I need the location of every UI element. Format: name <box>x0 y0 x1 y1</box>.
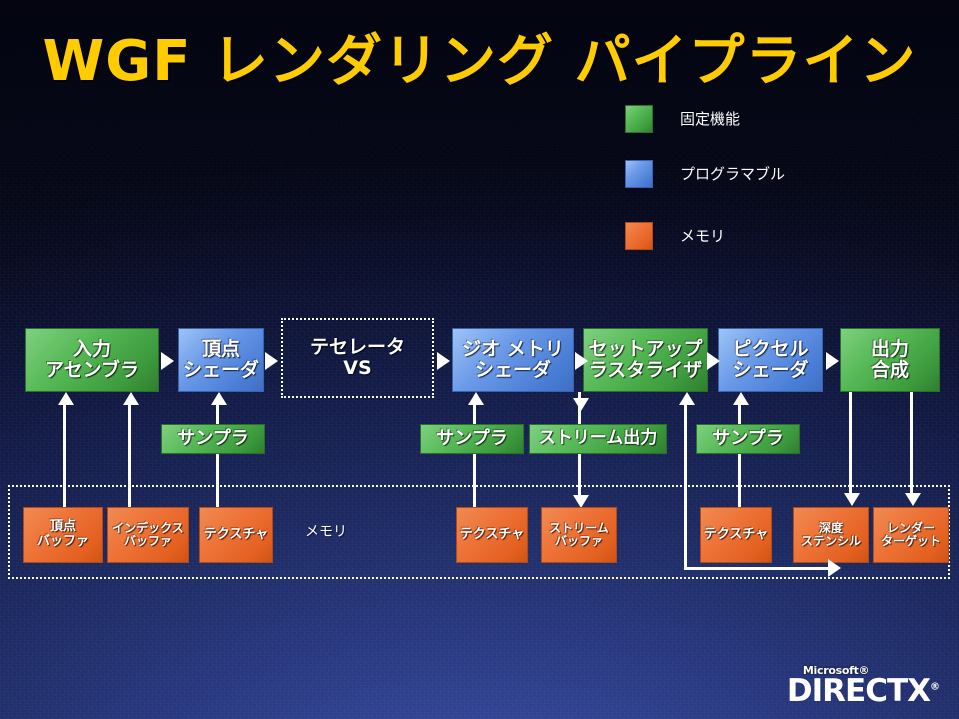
memory-depth-stencil-line2: ステンシル <box>801 535 861 548</box>
arrowhead-memory-to-rasterizer <box>679 392 695 405</box>
stage-vertex-shader-line1: 頂点 <box>202 339 240 360</box>
stage-geometry-shader-line1: ジオ メトリ <box>462 339 564 360</box>
stage-input-assembler[interactable]: 入力 アセンブラ <box>25 328 159 392</box>
stage-input-assembler-line1: 入力 <box>73 339 111 360</box>
slide-canvas: WGF レンダリング パイプライン 固定機能 プログラマブル メモリ メモリ 入… <box>0 0 959 719</box>
stage-setup-rasterizer-line1: セットアップ <box>588 339 702 360</box>
memory-depth-stencil[interactable]: 深度 ステンシル <box>793 507 869 563</box>
memory-texture-3-line1: テクスチャ <box>704 528 768 543</box>
memory-region-caption: メモリ <box>305 521 347 541</box>
arrowhead-ia-to-vs <box>161 352 174 370</box>
memory-stream-buffer-line2: バッファ <box>555 535 603 548</box>
memory-texture-3[interactable]: テクスチャ <box>700 507 772 563</box>
stage-tessellator-line2: VS <box>343 358 371 379</box>
sampler-box-vertex-stage[interactable]: サンプラ <box>161 424 265 454</box>
memory-texture-1[interactable]: テクスチャ <box>199 507 273 563</box>
arrowhead-indexbuffer-to-ia <box>123 392 139 405</box>
stage-pixel-shader-line2: シェーダ <box>732 360 808 381</box>
arrowhead-vertexbuffer-to-ia <box>58 392 74 405</box>
stage-output-merger-line1: 出力 <box>871 339 909 360</box>
stage-geometry-shader-line2: シェーダ <box>475 360 551 381</box>
page-title: WGF レンダリング パイプライン <box>0 16 959 97</box>
stage-input-assembler-line2: アセンブラ <box>45 360 139 381</box>
memory-render-target[interactable]: レンダー ターゲット <box>873 507 949 563</box>
sampler-label-3: サンプラ <box>712 429 783 449</box>
connector-memory-to-rasterizer <box>684 398 687 570</box>
connector-om-to-depthstencil <box>849 392 852 498</box>
directx-logo: Microsoft® DIRECTX® <box>787 664 939 709</box>
sampler-label-2: サンプラ <box>436 429 507 449</box>
memory-vertex-buffer-line2: バッファ <box>37 535 89 550</box>
arrowhead-ps-to-om <box>826 352 839 370</box>
stage-output-merger-line2: 合成 <box>871 360 909 381</box>
stage-pixel-shader[interactable]: ピクセル シェーダ <box>718 328 823 392</box>
sampler-box-geometry-stage[interactable]: サンプラ <box>420 424 524 454</box>
stage-setup-rasterizer[interactable]: セットアップ ラスタライザ <box>583 328 708 392</box>
connector-rasterizer-feedback-horizontal <box>684 567 830 570</box>
legend-label-programmable: プログラマブル <box>680 163 785 184</box>
stage-output-merger[interactable]: 出力 合成 <box>840 328 940 392</box>
sampler-label-1: サンプラ <box>177 429 248 449</box>
memory-vertex-buffer-line1: 頂点 <box>50 520 76 535</box>
stage-tessellator-line1: テセレータ <box>310 337 405 358</box>
connector-indexbuffer-to-ia <box>128 398 131 508</box>
arrowhead-tessellator-to-gs <box>437 352 450 370</box>
stage-setup-rasterizer-line2: ラスタライザ <box>589 360 703 381</box>
memory-render-target-line1: レンダー <box>887 522 935 535</box>
memory-index-buffer[interactable]: インデックス バッファ <box>107 507 189 563</box>
connector-vertexbuffer-to-ia <box>63 398 66 508</box>
registered-mark: ® <box>930 682 939 693</box>
memory-index-buffer-line2: バッファ <box>124 535 172 548</box>
stage-pixel-shader-line1: ピクセル <box>732 339 808 360</box>
arrowhead-texture3-to-ps <box>733 392 749 405</box>
memory-texture-2[interactable]: テクスチャ <box>456 507 528 563</box>
arrowhead-vs-to-tessellator <box>265 352 278 370</box>
arrowhead-gs-to-rasterizer <box>575 352 588 370</box>
legend-swatch-programmable <box>625 160 653 188</box>
stage-tessellator-vs[interactable]: テセレータ VS <box>281 318 434 398</box>
arrowhead-texture2-to-gs <box>468 392 484 405</box>
stage-vertex-shader-line2: シェーダ <box>183 360 259 381</box>
memory-render-target-line2: ターゲット <box>881 535 941 548</box>
stage-geometry-shader[interactable]: ジオ メトリ シェーダ <box>452 328 574 392</box>
directx-text: DIRECTX <box>787 673 930 709</box>
sampler-box-pixel-stage[interactable]: サンプラ <box>696 424 800 454</box>
memory-texture-1-line1: テクスチャ <box>204 528 268 543</box>
legend-label-fixed-function: 固定機能 <box>680 108 740 129</box>
arrowhead-om-to-rendertarget <box>905 493 921 506</box>
memory-texture-2-line1: テクスチャ <box>460 528 524 543</box>
directx-wordmark: DIRECTX® <box>787 673 939 709</box>
arrowhead-rasterizer-to-ps <box>707 352 720 370</box>
stream-output-box[interactable]: ストリーム出力 <box>529 424 667 454</box>
arrowhead-texture1-to-vs <box>211 392 227 405</box>
stream-output-label: ストリーム出力 <box>539 429 658 448</box>
memory-vertex-buffer[interactable]: 頂点 バッファ <box>23 507 103 563</box>
arrowhead-om-to-depthstencil <box>844 493 860 506</box>
memory-stream-buffer[interactable]: ストリーム バッファ <box>541 507 617 563</box>
arrowhead-gs-to-streamout <box>573 398 589 411</box>
memory-index-buffer-line1: インデックス <box>112 522 184 535</box>
legend-swatch-memory <box>625 222 653 250</box>
memory-depth-stencil-line1: 深度 <box>819 522 843 535</box>
arrowhead-feedback-to-depthstencil <box>828 559 841 577</box>
connector-om-to-rendertarget <box>910 392 913 498</box>
legend-label-memory: メモリ <box>680 225 725 246</box>
legend-swatch-fixed-function <box>625 105 653 133</box>
stage-vertex-shader[interactable]: 頂点 シェーダ <box>178 328 264 392</box>
memory-stream-buffer-line1: ストリーム <box>549 522 609 535</box>
